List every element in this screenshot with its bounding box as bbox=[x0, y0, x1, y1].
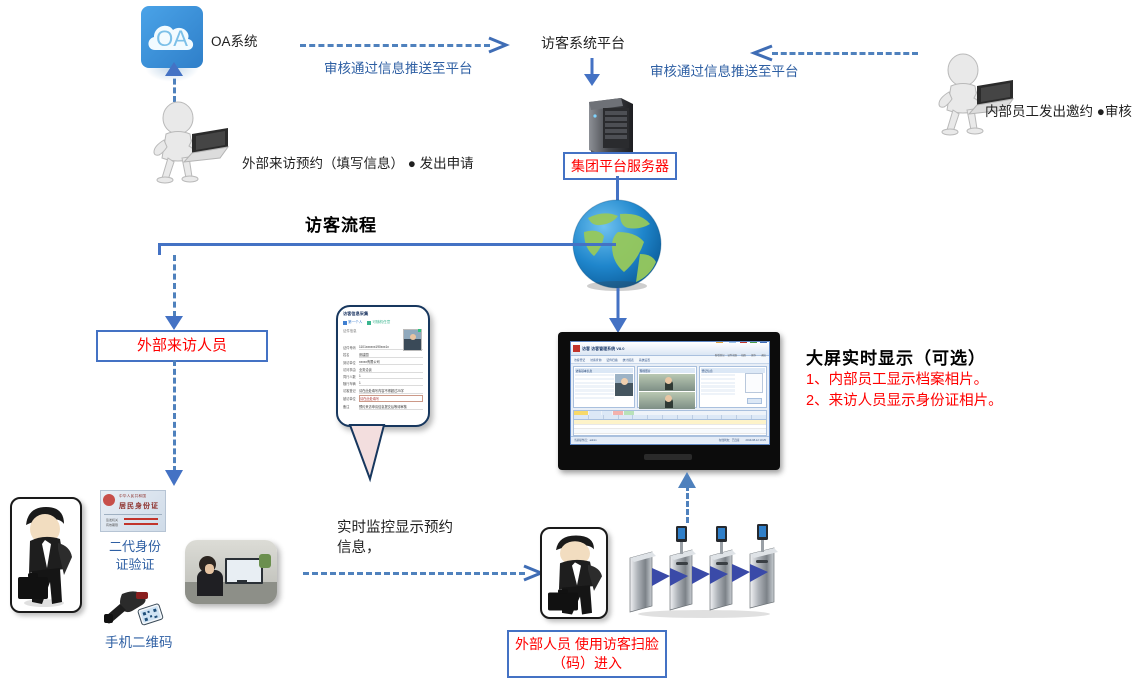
form-field-label: 被访单位 bbox=[343, 396, 357, 401]
external-visitor-figure bbox=[140, 100, 232, 182]
panel-left-title: 访客基本信息 bbox=[575, 368, 633, 373]
oa-to-platform-dashline bbox=[300, 44, 490, 47]
qr-caption: 手机二维码 bbox=[105, 634, 173, 652]
internal-employee-figure bbox=[925, 52, 1017, 134]
form-field-label: 证件号码 bbox=[343, 345, 357, 350]
businessman-icon bbox=[542, 529, 606, 617]
toolbar-button[interactable]: 新增登记 bbox=[715, 341, 725, 361]
internal-to-platform-dashline bbox=[772, 52, 918, 55]
visitor-form-callout: 访客信息采集 第一个人 可随机任意 证件信息 证件号码 1101xxxxxx19… bbox=[336, 305, 432, 475]
external-booking-annotation: 外部来访预约（填写信息） ● 发出申请 bbox=[242, 155, 474, 173]
form-field-row[interactable]: 姓名 张建国 bbox=[343, 352, 423, 358]
push-right-annotation: 审核通过信息推送至平台 bbox=[650, 63, 799, 81]
app-toolbar: 新增登记 证件读取 拍照 保存 退出 bbox=[715, 341, 767, 361]
person-laptop-icon bbox=[140, 100, 232, 182]
turnstile-gates-glyph bbox=[626, 524, 794, 620]
form-field-row[interactable]: 同行人数 1 bbox=[343, 374, 423, 379]
push-left-annotation: 审核通过信息推送至平台 bbox=[324, 60, 473, 78]
id-card-caption-line1: 二代身份 bbox=[106, 538, 164, 556]
toolbar-button[interactable]: 保存 bbox=[750, 341, 757, 361]
form-field-label: 随行车辆 bbox=[343, 381, 357, 386]
form-card-title: 访客信息采集 bbox=[343, 311, 423, 317]
group-server-box: 集团平台服务器 bbox=[563, 152, 677, 180]
internal-to-platform-arrowhead bbox=[750, 44, 774, 62]
oa-icon-text: OA bbox=[156, 26, 188, 51]
app-title: 访客 访客管理系统 V8.0 bbox=[582, 346, 624, 352]
save-button[interactable] bbox=[747, 398, 762, 404]
barcode-scanner-glyph bbox=[100, 586, 170, 630]
form-field-row[interactable]: 访问事由 业务洽谈 bbox=[343, 367, 423, 373]
oa-system-icon: OA bbox=[141, 6, 203, 68]
form-field-value: 请在此处填写内容不得超过25字 bbox=[359, 388, 423, 394]
globe-to-monitor-arrow bbox=[608, 288, 628, 334]
form-field-row[interactable]: 被访单位 请在此处填写 bbox=[343, 395, 423, 402]
form-field-value: 1 bbox=[359, 381, 423, 386]
live-photo bbox=[639, 392, 695, 409]
form-field-label: 到访单位 bbox=[343, 360, 357, 365]
form-tab-two-icon bbox=[367, 321, 371, 325]
toolbar-button[interactable]: 退出 bbox=[760, 341, 767, 361]
form-tab-two-label[interactable]: 可随机任意 bbox=[372, 320, 390, 325]
realtime-monitor-annotation: 实时监控显示预约 信息， bbox=[337, 519, 453, 558]
realtime-monitor-line2: 信息， bbox=[337, 539, 453, 559]
title-to-visitorbox-dashline bbox=[173, 255, 176, 317]
figure-to-oa-arrowhead bbox=[165, 62, 183, 76]
panel-register-info: 登记信息 bbox=[699, 366, 767, 408]
big-screen-heading: 大屏实时显示（可选） bbox=[806, 344, 1003, 369]
gate-to-monitor-arrowhead bbox=[678, 472, 696, 488]
menu-item[interactable]: 证件扫描 bbox=[606, 358, 617, 362]
external-visitor-box: 外部来访人员 bbox=[96, 330, 268, 362]
form-field-row[interactable]: 到访单位 xxxxx有限公司 bbox=[343, 359, 423, 365]
external-person-photo-left bbox=[10, 497, 82, 613]
app-status-bar: 当前操作员：admin 在线状态：已连接 2019-08-12 10:25 bbox=[571, 436, 769, 443]
businessman-icon bbox=[12, 499, 76, 607]
oa-to-platform-arrowhead bbox=[487, 36, 509, 54]
toolbar-button[interactable]: 证件读取 bbox=[727, 341, 737, 361]
external-person-photo-gate bbox=[540, 527, 608, 619]
form-field-value: 业务洽谈 bbox=[359, 367, 423, 373]
id-card-caption: 二代身份 证验证 bbox=[106, 538, 164, 573]
form-field-label: 姓名 bbox=[343, 352, 357, 357]
qr-scanner-icon bbox=[100, 586, 170, 630]
group-platform-server-icon bbox=[583, 96, 639, 160]
form-field-row[interactable]: 随行车辆 1 bbox=[343, 381, 423, 386]
big-screen-note: 2、来访人员显示身份证相片。 bbox=[806, 392, 1003, 412]
id-card-caption-line2: 证验证 bbox=[106, 556, 164, 574]
gate-to-monitor-dashline bbox=[686, 485, 689, 523]
form-field-row[interactable]: 备注 预约来访申请信息提交后等待审核 bbox=[343, 404, 423, 410]
menu-item[interactable]: 统计报表 bbox=[623, 358, 634, 362]
form-field-label: 同行人数 bbox=[343, 374, 357, 379]
form-field-label: 访客登记 bbox=[343, 388, 357, 393]
visitor-form-card: 访客信息采集 第一个人 可随机任意 证件信息 证件号码 1101xxxxxx19… bbox=[336, 305, 430, 427]
realtime-monitor-line1: 实时监控显示预约 bbox=[337, 519, 453, 539]
form-field-value: xxxxx有限公司 bbox=[359, 359, 423, 365]
form-avatar-thumb bbox=[403, 329, 422, 351]
external-visitor-box-label: 外部来访人员 bbox=[137, 336, 227, 356]
big-screen-monitor: 访客 访客管理系统 V8.0 新增登记 证件读取 拍照 保存 bbox=[558, 332, 780, 470]
big-screen-notes: 大屏实时显示（可选） 1、内部员工显示档案相片。 2、来访人员显示身份证相片。 bbox=[806, 344, 1003, 411]
monitor-screen: 访客 访客管理系统 V8.0 新增登记 证件读取 拍照 保存 bbox=[570, 341, 770, 445]
menu-item[interactable]: 系统设置 bbox=[639, 358, 650, 362]
title-to-visitorbox-arrowhead bbox=[165, 316, 183, 330]
form-field-value: 1 bbox=[359, 374, 423, 379]
person-laptop-icon bbox=[925, 52, 1017, 134]
form-tab-one-icon bbox=[343, 321, 347, 325]
group-server-box-label: 集团平台服务器 bbox=[571, 157, 669, 176]
id-photo-placeholder bbox=[745, 373, 763, 393]
form-field-value: 预约来访申请信息提交后等待审核 bbox=[359, 404, 423, 410]
form-field-row[interactable]: 访客登记 请在此处填写内容不得超过25字 bbox=[343, 388, 423, 394]
reception-to-gate-dashline bbox=[303, 572, 525, 575]
title-rule bbox=[158, 243, 616, 246]
turnstile-gates bbox=[626, 524, 794, 620]
visitor-photo-thumb bbox=[615, 374, 633, 396]
form-field-value: 张建国 bbox=[359, 352, 423, 358]
live-photo bbox=[639, 374, 695, 391]
app-title-bar: 访客 访客管理系统 V8.0 新增登记 证件读取 拍照 保存 bbox=[571, 342, 769, 356]
form-field-label: 访问事由 bbox=[343, 367, 357, 372]
visitor-records-table bbox=[573, 410, 767, 436]
internal-invite-annotation: 内部员工发出邀约 ●审核 bbox=[985, 103, 1132, 121]
oa-cloud-glyph: OA bbox=[141, 6, 203, 68]
reception-desk-photo bbox=[185, 540, 277, 604]
status-left: 当前操作员：admin bbox=[574, 438, 597, 442]
panel-mid-title: 现场照片 bbox=[639, 368, 695, 373]
form-field-label: 备注 bbox=[343, 404, 357, 409]
visitor-platform-label: 访客系统平台 bbox=[541, 34, 625, 53]
menu-item[interactable]: 访客查询 bbox=[590, 358, 601, 362]
form-field-value: 请在此处填写 bbox=[359, 395, 423, 402]
server-tower-glyph bbox=[583, 96, 639, 160]
panel-visitor-info: 访客基本信息 bbox=[573, 366, 635, 408]
external-entry-box-label: 外部人员 使用访客扫脸（码）进入 bbox=[515, 635, 659, 673]
big-screen-note: 1、内部员工显示档案相片。 bbox=[806, 371, 1003, 391]
form-tab-one-label[interactable]: 第一个人 bbox=[348, 320, 362, 325]
menu-item[interactable]: 访客登记 bbox=[574, 358, 585, 362]
app-logo-icon bbox=[573, 345, 580, 352]
toolbar-button[interactable]: 拍照 bbox=[740, 341, 747, 361]
title-rule-riser bbox=[158, 243, 161, 255]
status-right: 2019-08-12 10:25 bbox=[746, 439, 766, 442]
callout-tail bbox=[340, 423, 420, 481]
id-card-image: 中华人民共和国 居民身份证 签发机关 有效期限 bbox=[100, 490, 166, 532]
external-entry-box: 外部人员 使用访客扫脸（码）进入 bbox=[507, 630, 667, 678]
status-mid: 在线状态：已连接 bbox=[719, 438, 740, 442]
page-title: 访客流程 bbox=[305, 211, 377, 236]
visitorbox-down-arrowhead bbox=[165, 470, 183, 486]
form-fields-list: 证件号码 1101xxxxxx190xxx1x 姓名 张建国 到访单位 xxxx… bbox=[343, 345, 423, 410]
monitor-stand bbox=[644, 454, 692, 460]
panel-live-photos: 现场照片 bbox=[637, 366, 697, 408]
oa-system-label: OA系统 bbox=[211, 33, 258, 51]
platform-to-server-arrow bbox=[582, 58, 602, 88]
visitorbox-down-dashline bbox=[173, 360, 176, 472]
